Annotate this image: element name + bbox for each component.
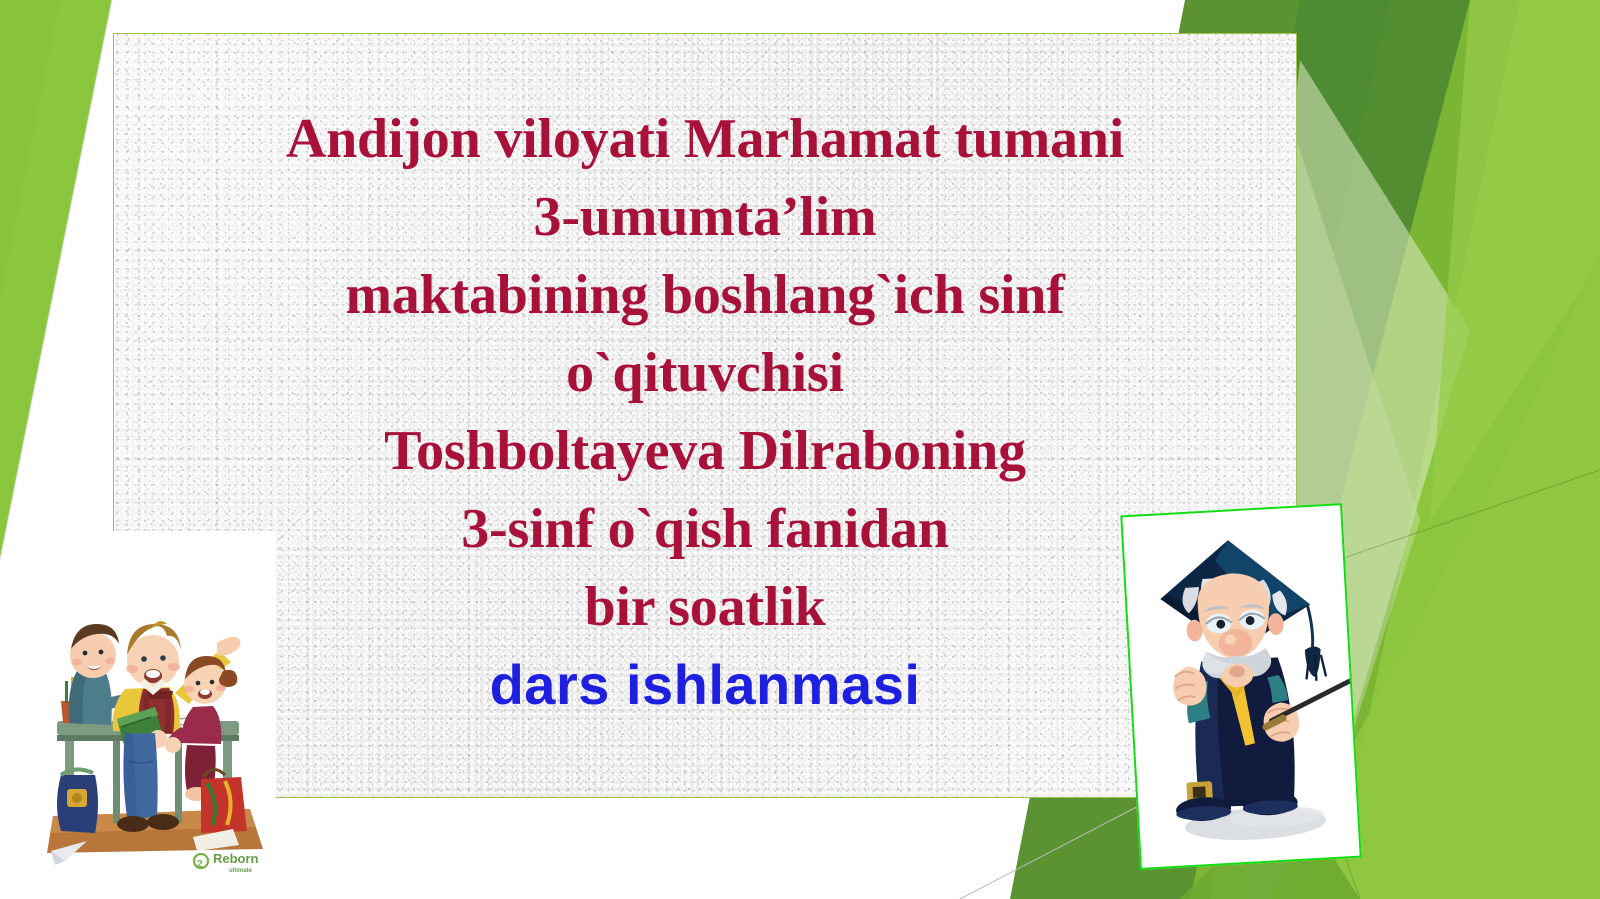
image-professor [1120, 503, 1361, 870]
svg-text:ultimate: ultimate [229, 868, 253, 874]
title-line-3: maktabining boshlang`ich sinf [140, 256, 1270, 334]
slide-canvas: Andijon viloyati Marhamat tumani 3-umumt… [0, 0, 1600, 899]
left-green-wedge [0, 0, 112, 560]
title-line-5: Toshboltayeva Dilraboning [140, 412, 1270, 490]
title-line-6: 3-sinf o`qish fanidan [140, 490, 1270, 568]
left-green-wedge-shadow [0, 0, 60, 300]
title-line-4: o`qituvchisi [140, 334, 1270, 412]
title-block: Andijon viloyati Marhamat tumani 3-umumt… [140, 100, 1270, 724]
image-pupils: 2 Reborn ultimate [25, 531, 276, 875]
svg-text:2: 2 [197, 859, 203, 870]
title-line-7: bir soatlik [140, 568, 1270, 646]
title-line-1: Andijon viloyati Marhamat tumani [140, 100, 1270, 178]
title-line-8-accent: dars ishlanmasi [140, 646, 1270, 724]
professor-illustration [1122, 505, 1359, 868]
right-green-light-wedge [1430, 0, 1600, 520]
title-line-2: 3-umumta’lim [140, 178, 1270, 256]
pupils-illustration: 2 Reborn ultimate [25, 531, 276, 875]
svg-text:Reborn: Reborn [213, 851, 259, 866]
